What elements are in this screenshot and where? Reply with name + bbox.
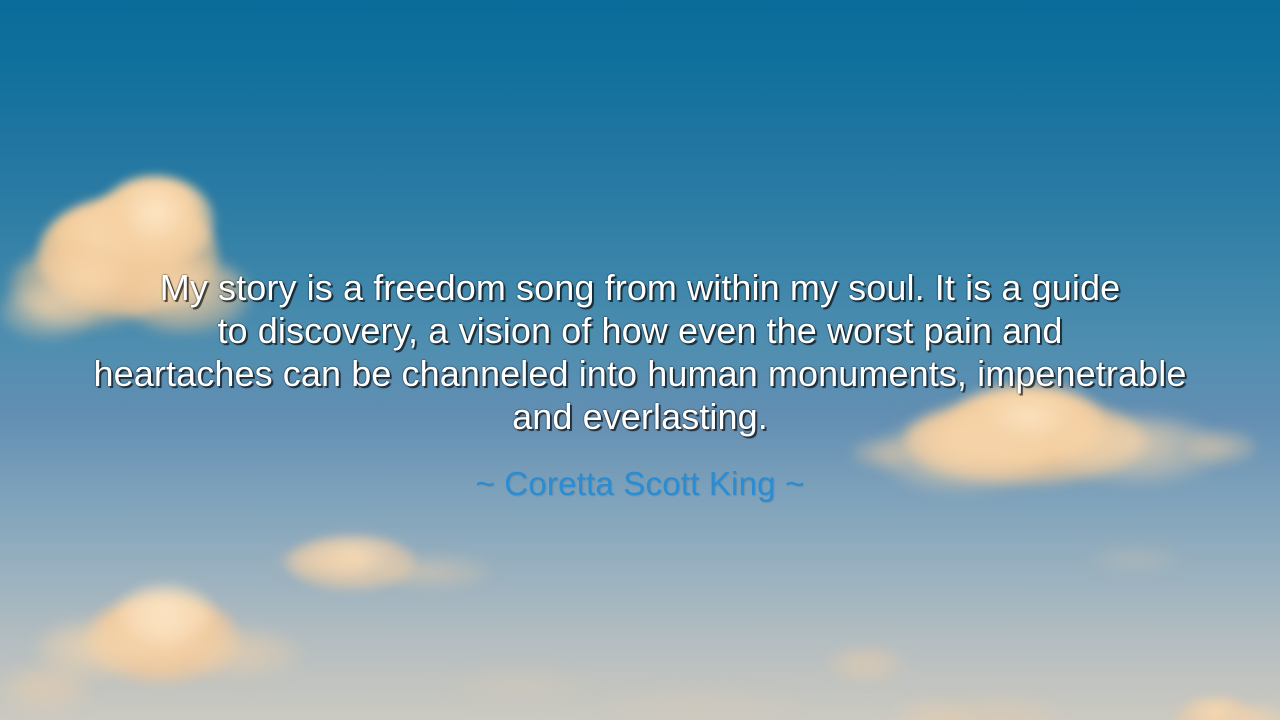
quote-block: My story is a freedom song from within m… bbox=[0, 266, 1280, 438]
quote-attribution: ~ Coretta Scott King ~ bbox=[0, 464, 1280, 504]
text-overlay: My story is a freedom song from within m… bbox=[0, 0, 1280, 720]
quote-card-stage: My story is a freedom song from within m… bbox=[0, 0, 1280, 720]
quote-text: My story is a freedom song from within m… bbox=[14, 266, 1266, 438]
